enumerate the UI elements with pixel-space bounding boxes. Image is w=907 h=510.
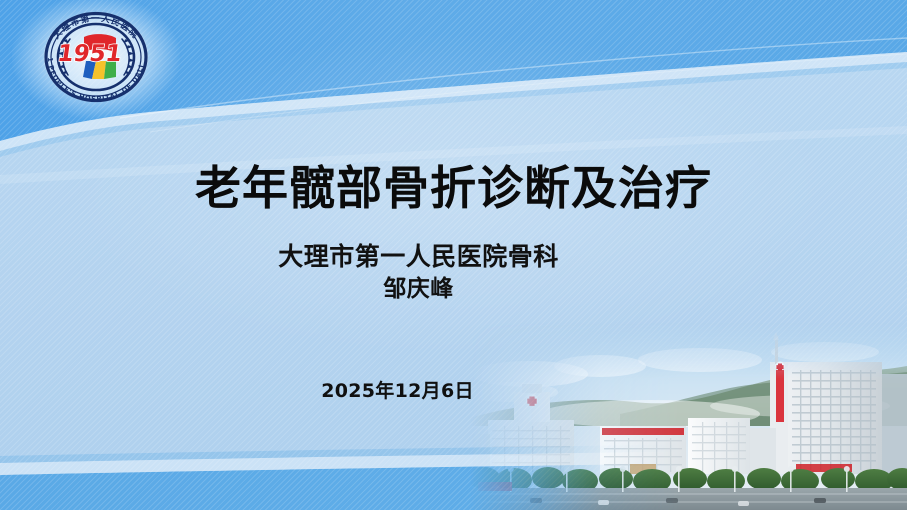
presentation-date: 2025年12月6日 [0,376,850,403]
organization-line: 大理市第一人民医院骨科 [0,240,905,273]
presenter-name: 邹庆峰 [0,273,905,306]
presentation-title-slide: 大理市第一人民医院 NO.1 PEOPLE'S HOSPITAL OF DALI… [0,0,907,510]
svg-text:1951: 1951 [56,41,124,67]
subtitle-block: 大理市第一人民医院骨科 邹庆峰 [0,240,905,306]
page-title: 老年髋部骨折诊断及治疗 [0,163,907,215]
hospital-emblem-icon: 大理市第一人民医院 NO.1 PEOPLE'S HOSPITAL OF DALI… [26,9,166,105]
hospital-campus-photo [470,322,907,510]
hospital-logo: 大理市第一人民医院 NO.1 PEOPLE'S HOSPITAL OF DALI… [26,9,166,105]
